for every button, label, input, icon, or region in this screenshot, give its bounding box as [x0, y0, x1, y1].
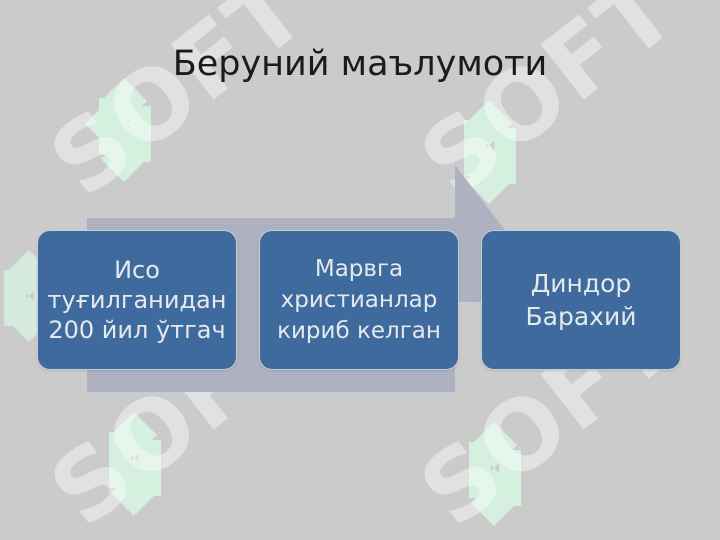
slide-title: Беруний маълумоти [0, 42, 720, 86]
diagram-node-2[interactable]: Марвга христианлар кириб келган [259, 230, 459, 370]
diagram-node-3[interactable]: Диндор Барахий [481, 230, 681, 370]
diagram-node-3-label: Диндор Барахий [482, 267, 680, 333]
diagram-node-1-label: Исо туғилганидан 200 йил ўтгач [38, 255, 236, 345]
diagram-node-1[interactable]: Исо туғилганидан 200 йил ўтгач [37, 230, 237, 370]
diagram-node-2-label: Марвга христианлар кириб келган [260, 254, 458, 347]
slide-canvas: SOFT SOFT SOFT SOFT SOFT Исо туғилганида… [0, 0, 720, 540]
